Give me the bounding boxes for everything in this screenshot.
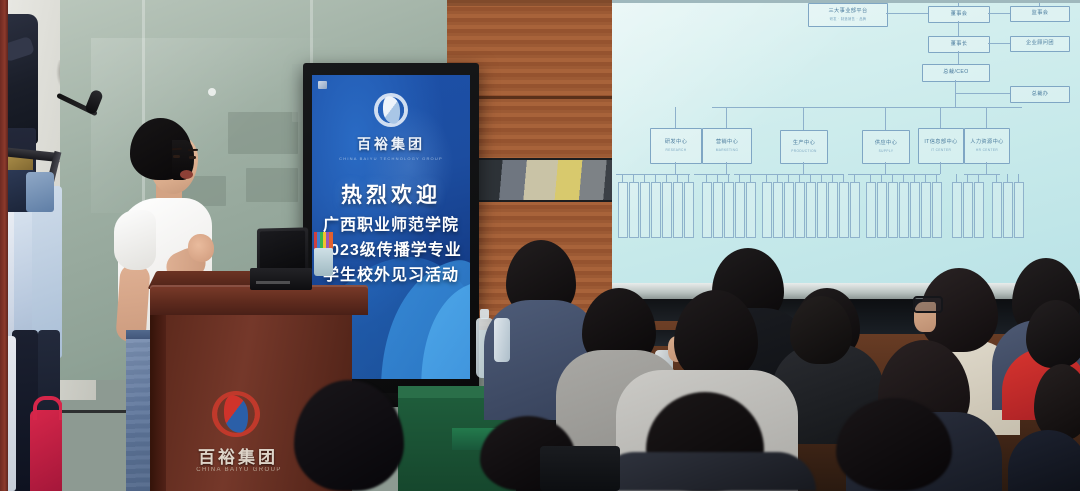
org-connector [777, 174, 778, 182]
org-connector [832, 174, 833, 182]
org-box-sub: MARKETING [716, 148, 739, 153]
org-box-label: 总裁/CEO [943, 69, 968, 77]
whiteboard-tray [612, 283, 1080, 299]
org-department-box [850, 182, 860, 238]
table-edge [398, 386, 524, 398]
org-connector [728, 174, 729, 182]
org-connector [616, 174, 690, 175]
org-connector [766, 174, 767, 182]
org-connector [726, 162, 727, 174]
org-box-label: 三大事业部平台 [828, 8, 867, 16]
org-department-box [1014, 182, 1024, 238]
org-connector [750, 174, 751, 182]
org-box-label: 企业顾问团 [1026, 40, 1054, 48]
org-connector [996, 174, 997, 182]
baiyu-emblem-icon [374, 93, 408, 127]
org-department-box [888, 182, 898, 238]
org-connector [739, 174, 740, 182]
org-connector [666, 174, 667, 182]
presenter-mouth [180, 170, 193, 179]
org-box-sub: HR CENTER [976, 148, 998, 153]
org-box: 三大事业部平台 研发 · 制造销售 · 品牌 [808, 3, 888, 27]
org-box-label: 董事会 [951, 11, 968, 19]
org-connector [633, 174, 634, 182]
org-department-box [952, 182, 962, 238]
org-connector [717, 174, 718, 182]
org-box-label: 生产中心 [793, 140, 815, 148]
org-connector [854, 174, 855, 182]
org-connector [694, 174, 730, 175]
org-center-box: 营销中心 MARKETING [702, 128, 752, 164]
org-connector [986, 107, 987, 128]
org-connector [677, 174, 678, 182]
org-center-box: 供应中心 SUPPLY [862, 130, 910, 164]
org-connector [688, 174, 689, 182]
presenter-sleeve [114, 210, 156, 270]
org-connector [886, 13, 928, 14]
org-box-label: 供应中心 [875, 140, 897, 148]
org-box-label: 总裁办 [1032, 91, 1049, 99]
org-connector [655, 174, 656, 182]
glass-reflection-shape [292, 64, 302, 122]
podium-brand-name: 百裕集团 [186, 443, 290, 468]
org-department-box [828, 182, 838, 238]
slide-line: 广西职业师范学院 [312, 213, 470, 238]
org-connector [940, 107, 941, 128]
presenter-eye [173, 155, 180, 158]
org-department-box [974, 182, 984, 238]
pen-holder [314, 248, 333, 276]
org-department-box [684, 182, 694, 238]
glass-reflection-shape [228, 112, 298, 154]
org-department-box [629, 182, 639, 238]
org-department-box [651, 182, 661, 238]
org-department-box [618, 182, 628, 238]
org-connector [986, 162, 987, 174]
hanging-top [26, 172, 54, 212]
org-connector [955, 93, 1010, 94]
org-box-sub: PRODUCTION [791, 149, 816, 154]
org-chart-diagram: 三大事业部平台 研发 · 制造销售 · 品牌 董事会 监事会 董事长 企业顾问团… [612, 0, 1080, 300]
org-connector [1018, 174, 1019, 182]
org-connector [799, 174, 800, 182]
org-department-box [817, 182, 827, 238]
org-connector [803, 107, 804, 130]
org-connector [925, 174, 926, 182]
glass-reflection-shape [246, 168, 298, 202]
presenter-eye [189, 156, 196, 159]
org-department-box [910, 182, 920, 238]
org-box-sub: IT CENTER [931, 148, 951, 153]
org-connector [848, 174, 940, 175]
rack-frame [0, 0, 8, 491]
org-connector [821, 174, 822, 182]
org-connector [870, 174, 871, 182]
org-box: 监事会 [1010, 6, 1070, 22]
org-department-box [713, 182, 723, 238]
org-connector [803, 162, 804, 174]
org-connector [978, 174, 979, 182]
org-department-box [762, 182, 772, 238]
org-department-box [877, 182, 887, 238]
org-department-box [932, 182, 942, 238]
org-box: 企业顾问团 [1010, 36, 1070, 52]
org-department-box [746, 182, 756, 238]
org-connector [914, 174, 915, 182]
org-connector [956, 174, 957, 182]
org-department-box [773, 182, 783, 238]
org-department-box [963, 182, 973, 238]
org-department-box [784, 182, 794, 238]
org-connector [885, 162, 886, 174]
org-connector [967, 174, 968, 182]
garment-display-rack [0, 0, 62, 491]
org-connector [706, 174, 707, 182]
org-box: 总裁/CEO [922, 64, 990, 82]
org-box: 总裁办 [1010, 86, 1070, 103]
org-box-label: IT信息部中心 [924, 139, 957, 147]
presenter-eyebrow [188, 149, 198, 151]
org-box: 董事会 [928, 6, 990, 23]
presenter-hand [188, 234, 214, 262]
slide-welcome-heading: 热烈欢迎 [312, 179, 470, 209]
podium-brand-name-en: CHINA BAIYU GROUP [180, 467, 298, 473]
org-department-box [899, 182, 909, 238]
presentation-scene-photo: 三大事业部平台 研发 · 制造销售 · 品牌 董事会 监事会 董事长 企业顾问团… [0, 0, 1080, 491]
org-box: 董事长 [928, 36, 990, 53]
org-department-box [992, 182, 1002, 238]
org-box-label: 研发中心 [665, 139, 687, 147]
org-department-box [839, 182, 849, 238]
org-department-box [735, 182, 745, 238]
chair-back [540, 446, 620, 491]
org-department-box [724, 182, 734, 238]
projection-screen: 三大事业部平台 研发 · 制造销售 · 品牌 董事会 监事会 董事长 企业顾问团… [612, 0, 1080, 300]
org-box-label: 董事长 [951, 41, 968, 49]
laptop-base [250, 268, 312, 290]
org-connector [810, 174, 811, 182]
slide-body-lines: 广西职业师范学院 2023级传播学专业 学生校外见习活动 [312, 213, 470, 288]
window-icon [318, 81, 327, 89]
table-dark-rear [612, 330, 842, 346]
org-department-box [640, 182, 650, 238]
org-connector [843, 174, 844, 182]
org-connector [712, 107, 1022, 108]
org-connector [644, 174, 645, 182]
org-department-box [866, 182, 876, 238]
org-department-box [806, 182, 816, 238]
org-connector [892, 174, 893, 182]
podium-logo-icon [212, 391, 260, 437]
org-connector [675, 162, 676, 174]
org-connector [958, 21, 959, 36]
slide-brand-name-en: CHINA BAIYU TECHNOLOGY GROUP [312, 156, 470, 161]
org-connector [936, 174, 937, 182]
org-center-box: 生产中心 PRODUCTION [780, 130, 828, 164]
org-department-box [795, 182, 805, 238]
org-department-box [662, 182, 672, 238]
org-connector [964, 174, 1000, 175]
org-center-box: 研发中心 RESEARCH [650, 128, 702, 164]
org-connector [788, 174, 789, 182]
org-center-box: IT信息部中心 IT CENTER [918, 128, 964, 164]
slide-brand-name: 百裕集团 [312, 134, 470, 154]
slide-brand-logo: 百裕集团 CHINA BAIYU TECHNOLOGY GROUP [312, 93, 470, 161]
org-connector [988, 13, 1010, 14]
org-connector [726, 107, 727, 128]
org-department-box [673, 182, 683, 238]
org-box-label: 人力资源中心 [970, 139, 1004, 147]
red-shopping-bag [30, 410, 62, 491]
org-connector [622, 174, 623, 182]
glass-highlight-dot [208, 88, 216, 96]
org-connector [903, 174, 904, 182]
laptop-screen [260, 231, 305, 271]
org-connector [675, 107, 676, 128]
org-connector [1007, 174, 1008, 182]
lower-wall [612, 321, 1080, 491]
org-box-sub: RESEARCH [666, 148, 687, 153]
org-center-box: 人力资源中心 HR CENTER [964, 128, 1010, 164]
org-box-label: 营销中心 [716, 139, 738, 147]
org-connector [881, 174, 882, 182]
lectern-podium: 百裕集团 CHINA BAIYU GROUP [150, 285, 368, 491]
org-department-box [702, 182, 712, 238]
org-box-sub: 研发 · 制造销售 · 品牌 [830, 17, 867, 22]
org-connector [958, 51, 959, 64]
org-department-box [921, 182, 931, 238]
wall-mirror-strip [454, 158, 624, 202]
table-dark-rear [836, 300, 1080, 334]
org-department-box [1003, 182, 1013, 238]
water-bottle [476, 318, 493, 378]
org-box-sub: SUPPLY [879, 149, 894, 154]
org-connector [988, 43, 1010, 44]
org-connector [940, 162, 941, 174]
slide-line: 2023级传播学专业 [312, 238, 470, 263]
org-box-label: 监事会 [1032, 10, 1049, 18]
org-connector [885, 107, 886, 130]
projection-screen-frame [612, 0, 1080, 3]
